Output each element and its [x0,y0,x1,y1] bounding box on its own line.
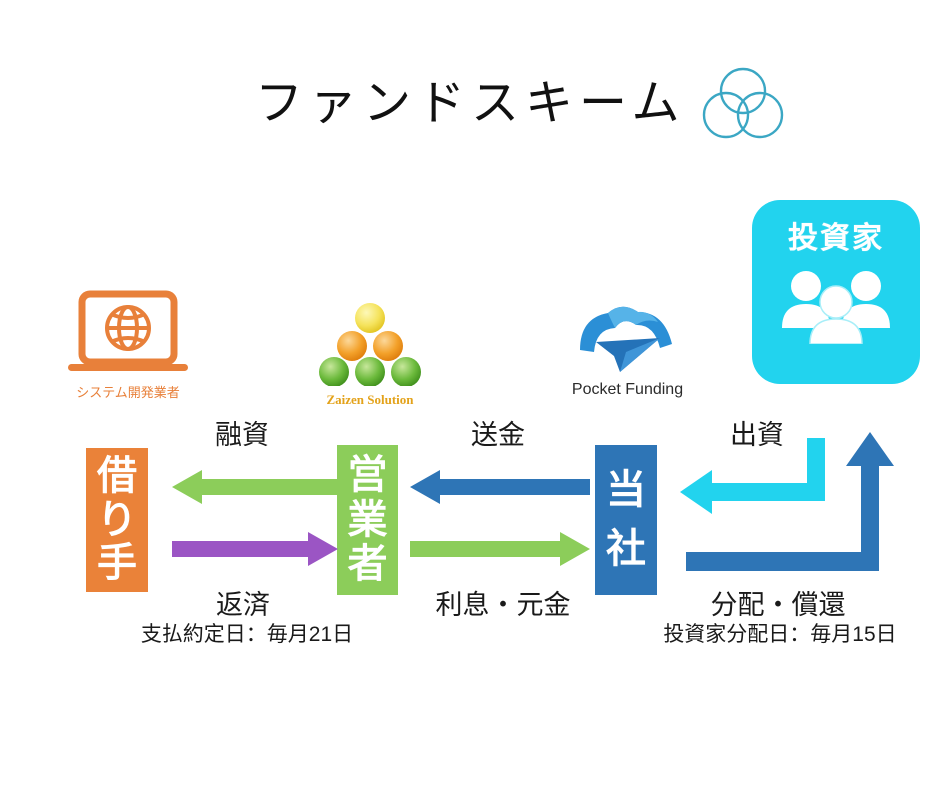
diagram-canvas: ファンドスキーム システム開発業者 [0,0,945,790]
operator-char-1: 営 [348,455,388,496]
three-people-icon [773,268,899,344]
cloud-paper-plane-icon [568,296,688,374]
operator-char-3: 者 [348,544,388,585]
venn-logo-icon [702,65,784,143]
investor-distribution-note: 投資家分配日：毎月15日 [637,622,923,647]
distribution-redemption-label: 分配・償還 [690,590,866,621]
system-developer-block: システム開発業者 [48,288,208,401]
payment-due-note: 支払約定日：毎月21日 [122,622,372,647]
repayment-arrow [172,532,338,566]
loan-arrow [172,470,338,504]
system-developer-label: システム開発業者 [48,382,208,401]
remittance-arrow [410,470,590,504]
operator-bar: 営 業 者 [337,445,398,595]
interest-principal-arrow [410,532,590,566]
borrower-bar: 借 り 手 [86,448,148,592]
borrower-char-1: 借 [97,456,137,497]
company-bar: 当 社 [595,445,657,595]
zaizen-solution-block: Zaizen Solution [305,302,435,408]
laptop-globe-icon [64,288,192,380]
repayment-label: 返済 [203,590,283,621]
remittance-label: 送金 [458,420,538,451]
investor-label: 投資家 [788,224,884,254]
borrower-char-2: り [97,500,137,541]
distribution-redemption-arrow [680,430,900,600]
pocket-funding-label: Pocket Funding [550,381,705,399]
company-char-2: 社 [606,529,646,570]
investment-label: 出資 [717,420,797,451]
interest-principal-label: 利息・元金 [415,590,591,621]
borrower-char-3: 手 [97,543,137,584]
loan-label: 融資 [202,420,282,451]
zaizen-solution-label: Zaizen Solution [305,392,435,408]
sphere-pyramid-logo-icon [310,302,430,386]
page-title: ファンドスキーム [255,64,784,144]
page-title-text: ファンドスキーム [255,80,686,128]
company-char-1: 当 [606,470,646,511]
investor-card: 投資家 [752,200,920,384]
operator-char-2: 業 [348,500,388,541]
pocket-funding-block: Pocket Funding [550,296,705,399]
